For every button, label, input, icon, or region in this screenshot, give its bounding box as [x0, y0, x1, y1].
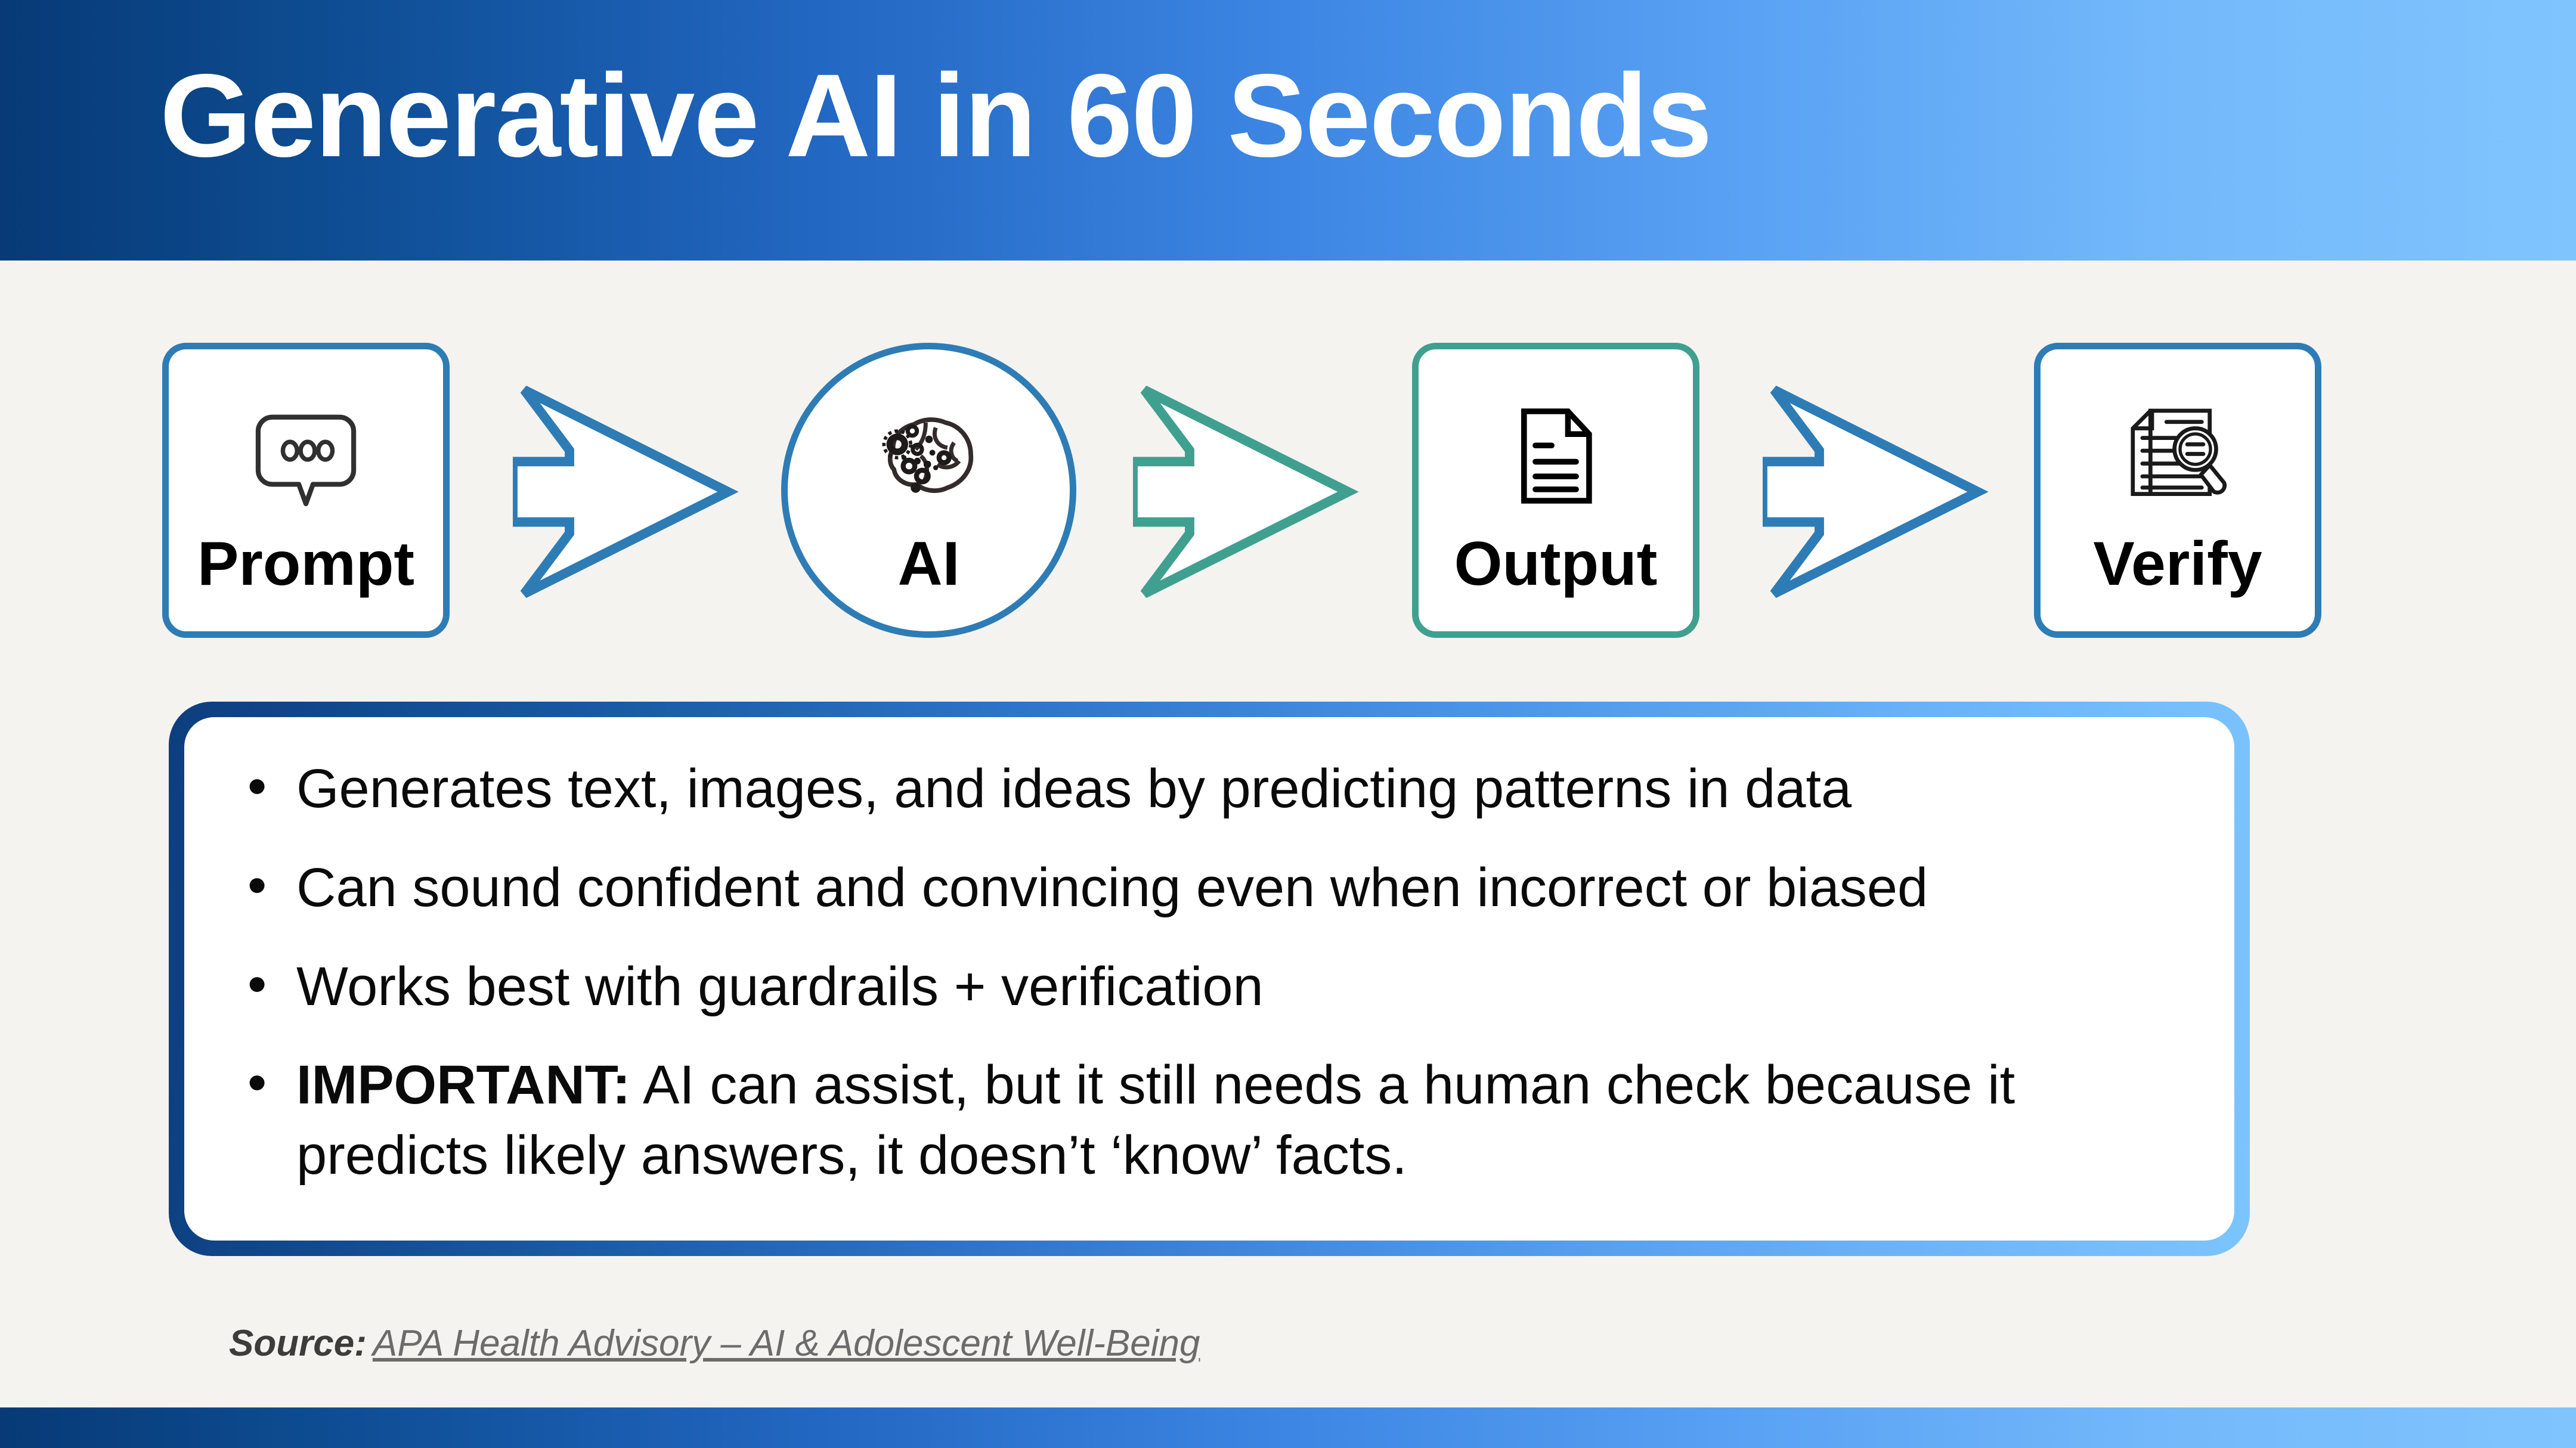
document-icon — [1496, 399, 1615, 513]
flow-node-ai[interactable]: AI — [781, 343, 1076, 638]
list-item: Works best with guardrails + verificatio… — [241, 952, 2177, 1022]
page-title: Generative AI in 60 Seconds — [160, 57, 1711, 175]
slide: Generative AI in 60 Seconds Prompt — [0, 0, 2576, 1448]
key-points-card: Generates text, images, and ideas by pre… — [169, 702, 2250, 1256]
source-link[interactable]: APA Health Advisory – AI & Adolescent We… — [373, 1323, 1200, 1364]
flow-node-label: AI — [898, 533, 960, 595]
flow-node-output[interactable]: Output — [1412, 343, 1699, 638]
arrow-ai-to-output — [1133, 379, 1360, 605]
brain-gears-icon — [869, 399, 989, 513]
arrow-prompt-to-ai — [513, 379, 739, 605]
flow-node-verify[interactable]: Verify — [2034, 343, 2321, 638]
header-band: Generative AI in 60 Seconds — [0, 0, 2576, 261]
list-item: Generates text, images, and ideas by pre… — [241, 754, 2177, 824]
source-line: Source:APA Health Advisory – AI & Adoles… — [229, 1322, 1200, 1365]
flow-node-label: Output — [1454, 533, 1658, 595]
document-magnifier-icon — [2118, 399, 2237, 513]
flow-node-label: Verify — [2093, 533, 2262, 595]
list-item-text: Works best with guardrails + verificatio… — [296, 956, 1264, 1017]
footer-band — [0, 1407, 2576, 1448]
speech-bubble-icon — [246, 399, 366, 513]
arrow-output-to-verify — [1763, 379, 1989, 605]
flow-node-prompt[interactable]: Prompt — [162, 343, 450, 638]
flow-node-label: Prompt — [197, 533, 414, 595]
flow-diagram: Prompt — [0, 343, 2576, 638]
list-item: Can sound confident and convincing even … — [241, 853, 2177, 923]
list-item-lead: IMPORTANT: — [296, 1055, 630, 1115]
list-item-important: IMPORTANT: AI can assist, but it still n… — [241, 1050, 2177, 1191]
source-label: Source: — [229, 1323, 367, 1364]
list-item-text: Generates text, images, and ideas by pre… — [296, 758, 1851, 819]
key-points-list: Generates text, images, and ideas by pre… — [241, 754, 2177, 1191]
key-points-inner: Generates text, images, and ideas by pre… — [184, 717, 2234, 1241]
list-item-text: Can sound confident and convincing even … — [296, 857, 1928, 918]
